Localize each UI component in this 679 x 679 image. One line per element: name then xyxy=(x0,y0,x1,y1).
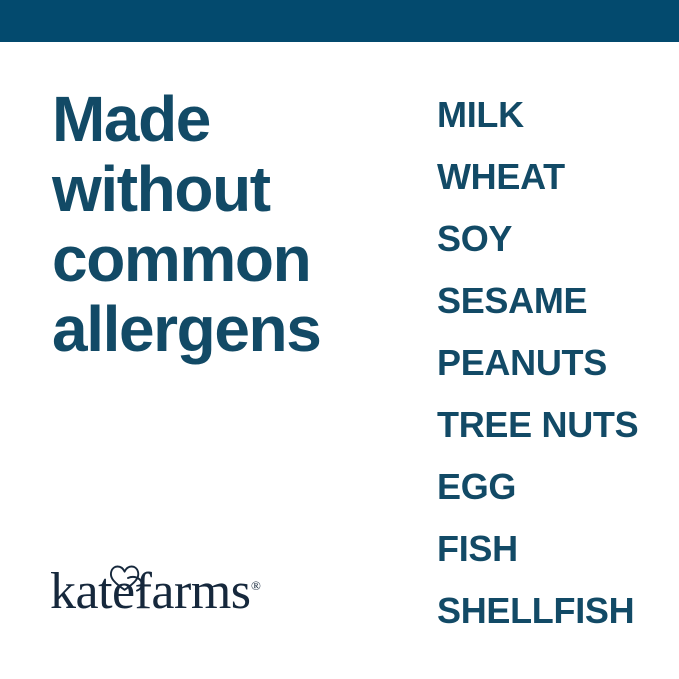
list-item: SHELLFISH xyxy=(437,580,667,642)
headline-line-2: without xyxy=(52,154,402,224)
brand-logo: katefarms ® xyxy=(50,556,270,620)
logo-wordmark-text: katefarms xyxy=(50,563,251,620)
list-item: MILK xyxy=(437,84,667,146)
list-item: WHEAT xyxy=(437,146,667,208)
headline-line-4: allergens xyxy=(52,294,402,364)
list-item: FISH xyxy=(437,518,667,580)
allergen-list: MILK WHEAT SOY SESAME PEANUTS TREE NUTS … xyxy=(437,84,667,642)
page-title: Made without common allergens xyxy=(52,84,402,364)
list-item: EGG xyxy=(437,456,667,518)
top-navy-bar xyxy=(0,0,679,42)
list-item: SESAME xyxy=(437,270,667,332)
headline-line-3: common xyxy=(52,224,402,294)
list-item: SOY xyxy=(437,208,667,270)
allergen-infographic-card: Made without common allergens MILK WHEAT… xyxy=(0,0,679,679)
list-item: TREE NUTS xyxy=(437,394,667,456)
headline-line-1: Made xyxy=(52,84,402,154)
list-item: PEANUTS xyxy=(437,332,667,394)
registered-trademark-symbol: ® xyxy=(251,578,261,593)
